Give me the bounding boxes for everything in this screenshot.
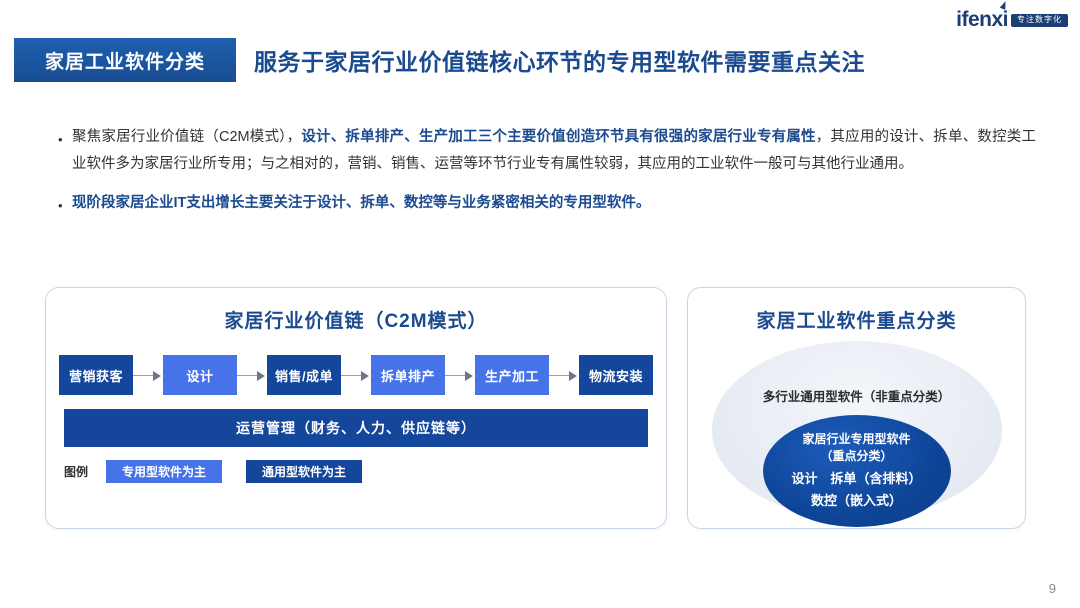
inner-line-3: 设计 拆单（含排料） (791, 470, 921, 489)
bullet-highlight-text: 现阶段家居企业IT支出增长主要关注于设计、拆单、数控等与业务紧密相关的专用型软件… (72, 195, 650, 211)
flow-step-1: 营销获客 (59, 355, 133, 395)
legend-label: 图例 (64, 463, 88, 480)
flow-step-4: 拆单排产 (371, 355, 445, 395)
classification-title: 家居工业软件重点分类 (688, 306, 1025, 333)
logo-text: ifenxi (956, 8, 1008, 31)
flow-step-2: 设计 (163, 355, 237, 395)
header-category-badge: 家居工业软件分类 (14, 38, 236, 82)
logo-tagline-badge: 专注数字化 (1011, 14, 1068, 27)
inner-line-2: （重点分类） (820, 448, 892, 465)
flow-step-5: 生产加工 (475, 355, 549, 395)
bullet-plain-text: 聚焦家居行业价值链（C2M模式）， (72, 129, 301, 145)
flow-arrow-icon (549, 370, 579, 381)
value-chain-title: 家居行业价值链（C2M模式） (46, 306, 666, 333)
software-classification-panel: 家居工业软件重点分类 多行业通用型软件（非重点分类） 家居行业专用型软件 （重点… (687, 287, 1026, 529)
slide-header: 家居工业软件分类 服务于家居行业价值链核心环节的专用型软件需要重点关注 (14, 38, 1066, 82)
inner-ellipse-specialized-software: 家居行业专用型软件 （重点分类） 设计 拆单（含排料） 数控（嵌入式） (763, 415, 951, 527)
flow-arrow-icon (341, 370, 371, 381)
bullet-item: • 聚焦家居行业价值链（C2M模式），设计、拆单排产、生产加工三个主要价值创造环… (58, 124, 1036, 178)
slide-canvas: ifenxi 专注数字化 家居工业软件分类 服务于家居行业价值链核心环节的专用型… (0, 0, 1080, 608)
flow-arrow-icon (445, 370, 475, 381)
bullet-dot-icon: • (58, 124, 72, 146)
operations-bar: 运营管理（财务、人力、供应链等） (64, 409, 648, 447)
bullet-dot-icon: • (58, 190, 72, 212)
flow-step-6: 物流安装 (579, 355, 653, 395)
logo-wordmark: ifenxi (956, 8, 1008, 32)
value-chain-flow: 营销获客设计销售/成单拆单排产生产加工物流安装 (46, 355, 666, 395)
flow-step-3: 销售/成单 (267, 355, 341, 395)
flow-arrow-icon (237, 370, 267, 381)
page-number: 9 (1049, 581, 1056, 596)
flow-arrow-icon (133, 370, 163, 381)
bullet-highlight-text: 设计、拆单排产、生产加工三个主要价值创造环节具有很强的家居行业专有属性 (301, 129, 815, 145)
bullet-text-2: 现阶段家居企业IT支出增长主要关注于设计、拆单、数控等与业务紧密相关的专用型软件… (72, 190, 1036, 217)
inner-line-4: 数控（嵌入式） (811, 492, 902, 511)
brand-logo: ifenxi 专注数字化 (956, 8, 1068, 32)
bullet-list: • 聚焦家居行业价值链（C2M模式），设计、拆单排产、生产加工三个主要价值创造环… (58, 124, 1036, 228)
bullet-text-1: 聚焦家居行业价值链（C2M模式），设计、拆单排产、生产加工三个主要价值创造环节具… (72, 124, 1036, 178)
value-chain-panel: 家居行业价值链（C2M模式） 营销获客设计销售/成单拆单排产生产加工物流安装 运… (45, 287, 667, 529)
bullet-item: • 现阶段家居企业IT支出增长主要关注于设计、拆单、数控等与业务紧密相关的专用型… (58, 190, 1036, 217)
legend: 图例 专用型软件为主 通用型软件为主 (64, 460, 648, 483)
outer-ellipse-label: 多行业通用型软件（非重点分类） (688, 386, 1025, 405)
page-title: 服务于家居行业价值链核心环节的专用型软件需要重点关注 (236, 38, 1066, 82)
inner-line-1: 家居行业专用型软件 (802, 431, 910, 448)
venn-diagram: 多行业通用型软件（非重点分类） 家居行业专用型软件 （重点分类） 设计 拆单（含… (688, 339, 1025, 529)
legend-chip-general: 通用型软件为主 (246, 460, 362, 483)
legend-chip-specialized: 专用型软件为主 (106, 460, 222, 483)
